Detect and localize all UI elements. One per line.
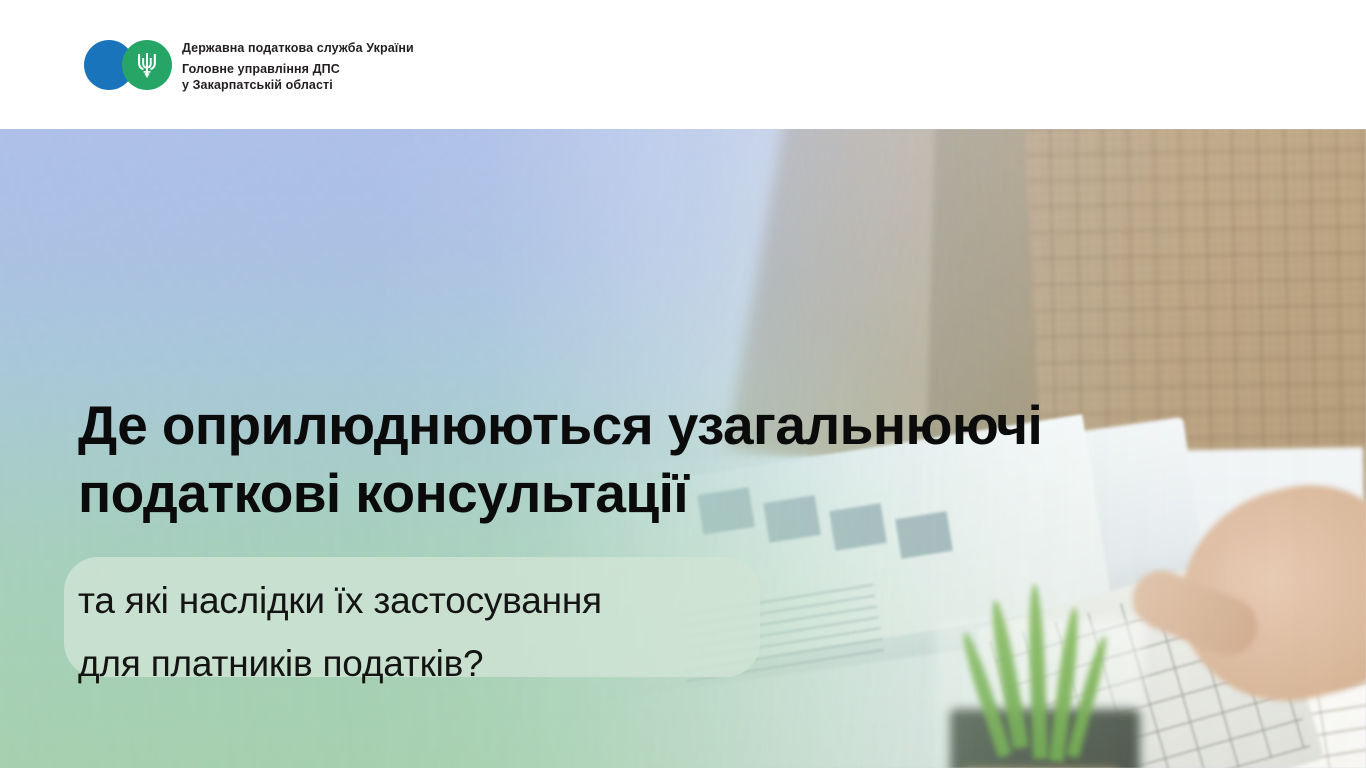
header-bar: Державна податкова служба України Головн… <box>0 0 1366 129</box>
ukraine-trident-icon <box>136 51 158 79</box>
organization-name-block: Державна податкова служба України Головн… <box>182 40 414 93</box>
subtitle-line-2: для платників податків? <box>78 632 778 695</box>
subtitle-line-1: та які наслідки їх застосування <box>78 569 778 632</box>
slide-canvas: Державна податкова служба України Головн… <box>0 0 1366 768</box>
organization-branding: Державна податкова служба України Головн… <box>84 40 414 93</box>
org-title-department: Головне управління ДПС <box>182 62 414 78</box>
headline-line-1: Де оприлюднюються узагальнюючі <box>78 391 1308 459</box>
hero-banner: Де оприлюднюються узагальнюючі податкові… <box>0 129 1366 768</box>
page-subtitle: та які наслідки їх застосування для плат… <box>78 569 778 695</box>
dps-logo <box>84 40 172 90</box>
org-title-primary: Державна податкова служба України <box>182 41 414 56</box>
hero-copy: Де оприлюднюються узагальнюючі податкові… <box>0 129 1366 768</box>
org-title-region: у Закарпатській області <box>182 78 414 94</box>
headline-line-2: податкові консультації <box>78 459 1308 527</box>
page-title: Де оприлюднюються узагальнюючі податкові… <box>78 391 1308 527</box>
